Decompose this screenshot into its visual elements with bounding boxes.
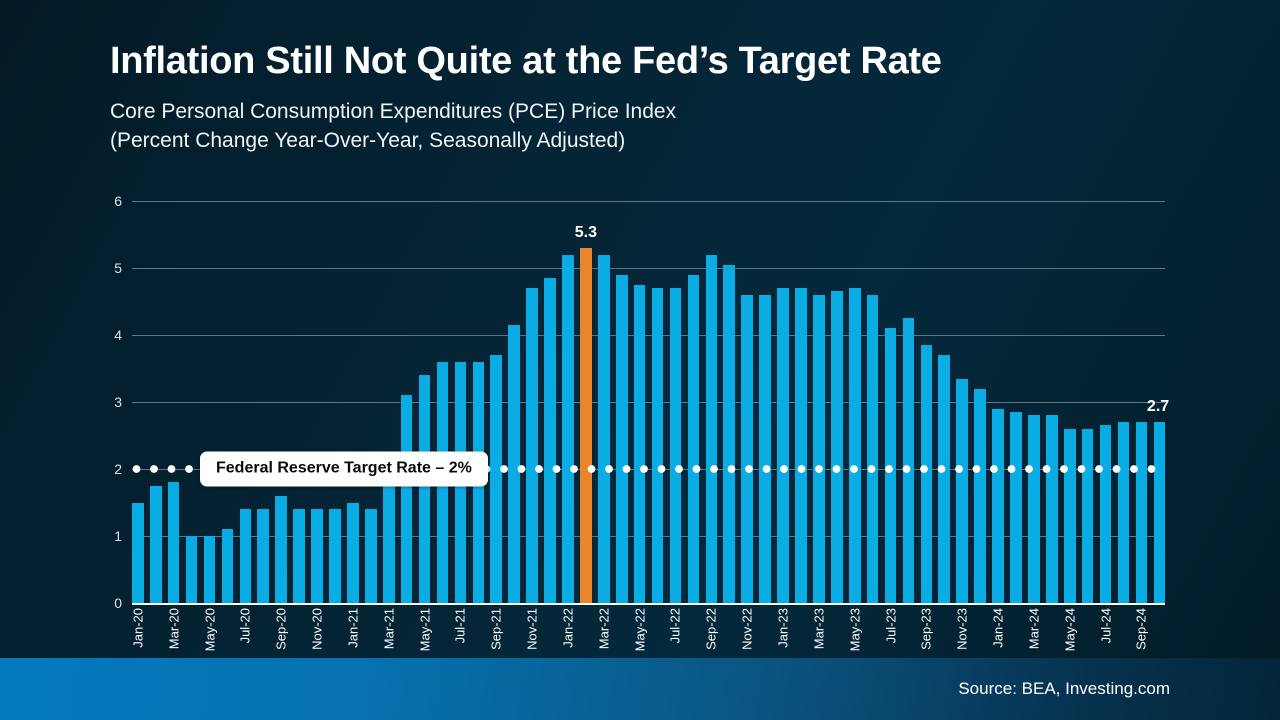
bar-apr-23[interactable] <box>831 291 843 603</box>
chart-header: Inflation Still Not Quite at the Fed’s T… <box>110 40 1210 156</box>
x-axis-slot <box>544 606 556 658</box>
x-axis-tick-label: Jul-24 <box>1098 608 1113 643</box>
bar-nov-22[interactable] <box>741 295 753 603</box>
bar-dec-22[interactable] <box>759 295 771 603</box>
x-axis-slot: Jul-22 <box>670 606 682 658</box>
x-axis-slot: Mar-24 <box>1028 606 1040 658</box>
x-axis-slot: Jan-22 <box>562 606 574 658</box>
x-axis-slot <box>688 606 700 658</box>
x-axis-slot: Sep-21 <box>490 606 502 658</box>
x-axis-tick-label: Jan-22 <box>560 608 575 648</box>
bar-nov-21[interactable] <box>526 288 538 603</box>
x-axis-slot <box>508 606 520 658</box>
bar-value-label: 5.3 <box>575 224 597 242</box>
bar-nov-20[interactable] <box>311 509 323 603</box>
bar-dec-21[interactable] <box>544 278 556 603</box>
chart-plot-area: 0123456 5.32.7 Federal Reserve Target Ra… <box>132 201 1165 603</box>
bar-jan-22[interactable] <box>562 255 574 603</box>
bar-sep-24[interactable] <box>1136 422 1148 603</box>
x-axis-tick-label: Jan-21 <box>345 608 360 648</box>
target-rate-badge: Federal Reserve Target Rate – 2% <box>200 452 488 487</box>
chart-subtitle-line-2: (Percent Change Year-Over-Year, Seasonal… <box>110 126 1210 156</box>
slide-canvas: Inflation Still Not Quite at the Fed’s T… <box>0 0 1280 720</box>
bar-feb-23[interactable] <box>795 288 807 603</box>
x-axis-slot <box>1118 606 1130 658</box>
bar-may-20[interactable] <box>204 536 216 603</box>
bar-mar-23[interactable] <box>813 295 825 603</box>
x-axis-slot: Jul-23 <box>885 606 897 658</box>
y-axis-tick-label: 5 <box>82 260 122 276</box>
x-axis-slot <box>1010 606 1022 658</box>
x-axis-slot <box>1154 606 1166 658</box>
bar-dec-23[interactable] <box>974 389 986 603</box>
x-axis-slot <box>867 606 879 658</box>
bar-oct-22[interactable] <box>723 265 735 603</box>
x-axis-slot: Jul-20 <box>240 606 252 658</box>
x-axis-tick-label: Nov-23 <box>955 608 970 650</box>
x-axis-slot: Mar-20 <box>168 606 180 658</box>
x-axis-tick-label: Sep-23 <box>919 608 934 650</box>
x-axis-slot <box>974 606 986 658</box>
x-axis-tick-label: Jan-20 <box>130 608 145 648</box>
x-axis-tick-label: Mar-20 <box>166 608 181 649</box>
bar-sep-23[interactable] <box>921 345 933 603</box>
x-axis-slot <box>1046 606 1058 658</box>
x-axis-slot <box>329 606 341 658</box>
x-axis-tick-label: Jul-20 <box>238 608 253 643</box>
x-axis-slot: Nov-23 <box>956 606 968 658</box>
bar-apr-24[interactable] <box>1046 415 1058 603</box>
x-axis-slot <box>759 606 771 658</box>
x-axis-tick-label: Sep-22 <box>704 608 719 650</box>
bar-jun-24[interactable] <box>1082 429 1094 603</box>
x-axis-tick-label: Jul-23 <box>883 608 898 643</box>
bar-apr-20[interactable] <box>186 536 198 603</box>
y-axis-tick-label: 4 <box>82 327 122 343</box>
chart-subtitle: Core Personal Consumption Expenditures (… <box>110 97 1210 157</box>
x-axis-slot <box>365 606 377 658</box>
x-axis-slot <box>437 606 449 658</box>
x-axis-slot: Jan-23 <box>777 606 789 658</box>
x-axis-tick-label: Mar-23 <box>811 608 826 649</box>
x-axis-slot <box>831 606 843 658</box>
x-axis-slot: Jul-24 <box>1100 606 1112 658</box>
bar-sep-20[interactable] <box>275 496 287 603</box>
x-axis-slot: Mar-21 <box>383 606 395 658</box>
footer-band: Source: BEA, Investing.com <box>0 658 1280 720</box>
x-axis-tick-label: May-24 <box>1062 608 1077 651</box>
bar-oct-21[interactable] <box>508 325 520 603</box>
bar-oct-20[interactable] <box>293 509 305 603</box>
x-axis-tick-label: Mar-21 <box>381 608 396 649</box>
x-axis-tick-label: Jul-21 <box>453 608 468 643</box>
bar-may-22[interactable] <box>634 285 646 603</box>
x-axis-labels: Jan-20Mar-20May-20Jul-20Sep-20Nov-20Jan-… <box>132 606 1165 658</box>
bar-apr-22[interactable] <box>616 275 628 603</box>
x-axis-tick-label: Sep-24 <box>1134 608 1149 650</box>
x-axis-tick-label: May-22 <box>632 608 647 651</box>
x-axis-slot <box>652 606 664 658</box>
bar-feb-20[interactable] <box>150 486 162 603</box>
x-axis-slot <box>903 606 915 658</box>
x-axis-tick-label: Mar-22 <box>596 608 611 649</box>
x-axis-slot: Jan-20 <box>132 606 144 658</box>
x-axis-slot <box>293 606 305 658</box>
x-axis-slot: Mar-22 <box>598 606 610 658</box>
bar-jul-22[interactable] <box>670 288 682 603</box>
bar-sep-22[interactable] <box>706 255 718 603</box>
x-axis-slot: Nov-22 <box>741 606 753 658</box>
y-axis-tick-label: 1 <box>82 528 122 544</box>
bar-jun-23[interactable] <box>867 295 879 603</box>
x-axis-slot <box>473 606 485 658</box>
x-axis-slot: May-20 <box>204 606 216 658</box>
bar-mar-24[interactable] <box>1028 415 1040 603</box>
x-axis-slot <box>257 606 269 658</box>
x-axis-slot <box>938 606 950 658</box>
page-title: Inflation Still Not Quite at the Fed’s T… <box>110 40 1210 83</box>
x-axis-slot <box>401 606 413 658</box>
x-axis-slot: May-23 <box>849 606 861 658</box>
x-axis-slot <box>723 606 735 658</box>
bar-aug-24[interactable] <box>1118 422 1130 603</box>
x-axis-slot <box>222 606 234 658</box>
x-axis-slot: Sep-24 <box>1136 606 1148 658</box>
bar-jul-23[interactable] <box>885 328 897 603</box>
bar-aug-23[interactable] <box>903 318 915 603</box>
bar-jan-24[interactable] <box>992 409 1004 603</box>
bar-mar-21[interactable] <box>383 469 395 603</box>
bar-jun-20[interactable] <box>222 529 234 603</box>
x-axis-slot: Jan-24 <box>992 606 1004 658</box>
x-axis-slot <box>150 606 162 658</box>
x-axis-slot: Nov-20 <box>311 606 323 658</box>
x-axis-slot: Jul-21 <box>455 606 467 658</box>
bar-jun-22[interactable] <box>652 288 664 603</box>
bar-apr-21[interactable] <box>401 395 413 603</box>
x-axis-slot <box>580 606 592 658</box>
x-axis-slot: May-22 <box>634 606 646 658</box>
x-axis-tick-label: Nov-21 <box>525 608 540 650</box>
x-axis-slot <box>186 606 198 658</box>
bar-mar-20[interactable] <box>168 482 180 603</box>
source-text: Source: BEA, Investing.com <box>958 679 1170 699</box>
x-axis-slot <box>616 606 628 658</box>
bar-feb-22[interactable]: 5.3 <box>580 248 592 603</box>
x-axis-tick-label: May-23 <box>847 608 862 651</box>
bar-oct-24[interactable]: 2.7 <box>1154 422 1166 603</box>
x-axis-slot: Nov-21 <box>526 606 538 658</box>
x-axis-tick-label: Sep-21 <box>489 608 504 650</box>
y-axis-tick-label: 2 <box>82 461 122 477</box>
x-axis-tick-label: Jul-22 <box>668 608 683 643</box>
x-axis-tick-label: Sep-20 <box>274 608 289 650</box>
bar-nov-23[interactable] <box>956 379 968 603</box>
gridline-0 <box>132 603 1165 605</box>
y-axis-tick-label: 3 <box>82 394 122 410</box>
x-axis-slot: Jan-21 <box>347 606 359 658</box>
x-axis-slot: Mar-23 <box>813 606 825 658</box>
x-axis-tick-label: Nov-22 <box>740 608 755 650</box>
bar-value-label: 2.7 <box>1147 398 1169 416</box>
x-axis-slot: May-24 <box>1064 606 1076 658</box>
bar-may-23[interactable] <box>849 288 861 603</box>
x-axis-tick-label: Jan-23 <box>776 608 791 648</box>
x-axis-slot <box>1082 606 1094 658</box>
bar-mar-22[interactable] <box>598 255 610 603</box>
y-axis-tick-label: 0 <box>82 595 122 611</box>
bar-may-24[interactable] <box>1064 429 1076 603</box>
x-axis-slot: Sep-22 <box>706 606 718 658</box>
x-axis-slot: Sep-23 <box>921 606 933 658</box>
y-axis-tick-label: 6 <box>82 193 122 209</box>
bar-feb-24[interactable] <box>1010 412 1022 603</box>
bar-aug-20[interactable] <box>257 509 269 603</box>
x-axis-tick-label: May-21 <box>417 608 432 651</box>
x-axis-tick-label: Mar-24 <box>1026 608 1041 649</box>
x-axis-slot <box>795 606 807 658</box>
bar-may-21[interactable] <box>419 375 431 603</box>
bar-jul-24[interactable] <box>1100 425 1112 603</box>
bar-oct-23[interactable] <box>938 355 950 603</box>
x-axis-tick-label: May-20 <box>202 608 217 651</box>
x-axis-tick-label: Jan-24 <box>991 608 1006 648</box>
x-axis-slot: May-21 <box>419 606 431 658</box>
bar-jan-21[interactable] <box>347 503 359 604</box>
bar-jan-23[interactable] <box>777 288 789 603</box>
chart-subtitle-line-1: Core Personal Consumption Expenditures (… <box>110 97 1210 127</box>
bar-aug-22[interactable] <box>688 275 700 603</box>
bar-dec-20[interactable] <box>329 509 341 603</box>
bar-jan-20[interactable] <box>132 503 144 604</box>
x-axis-slot: Sep-20 <box>275 606 287 658</box>
x-axis-tick-label: Nov-20 <box>310 608 325 650</box>
bar-sep-21[interactable] <box>490 355 502 603</box>
bar-feb-21[interactable] <box>365 509 377 603</box>
bar-jul-20[interactable] <box>240 509 252 603</box>
bar-series: 5.32.7 <box>132 201 1165 603</box>
